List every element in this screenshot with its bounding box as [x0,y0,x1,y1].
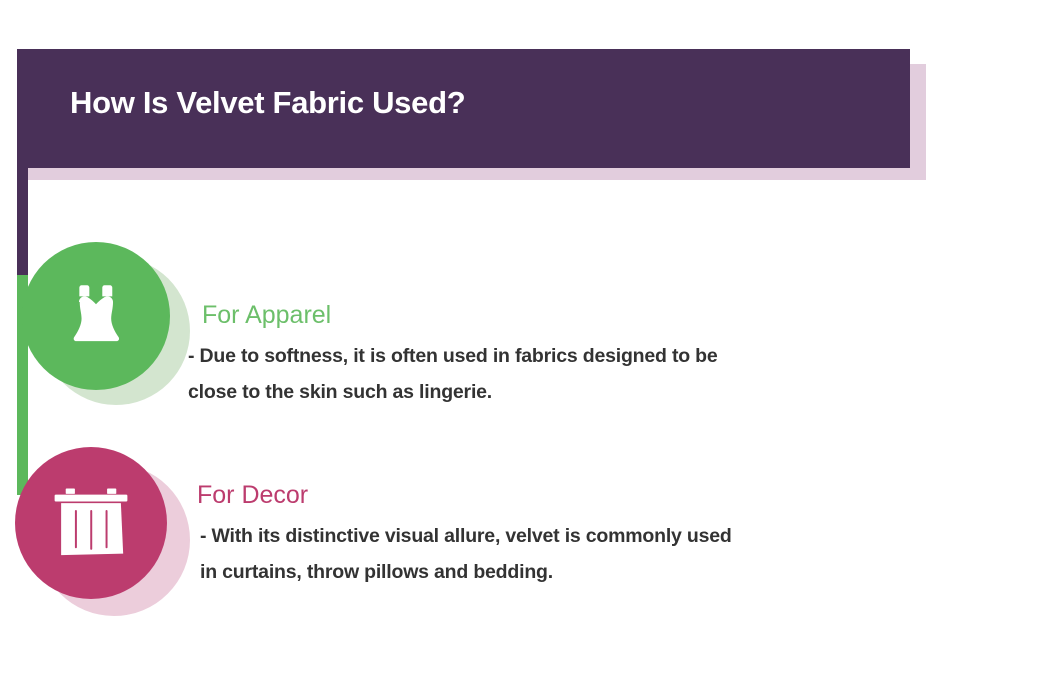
section-decor: For Decor - With its distinctive visual … [0,447,1041,622]
apparel-body-line-2: close to the skin such as lingerie. [188,374,878,410]
decor-badge-circle [15,447,167,599]
apparel-text-block: For Apparel - Due to softness, it is oft… [188,302,878,410]
decor-badge [14,447,190,612]
section-apparel: For Apparel - Due to softness, it is oft… [0,240,1041,415]
apparel-heading: For Apparel [188,302,878,330]
apparel-body-line-1: - Due to softness, it is often used in f… [188,338,878,374]
decor-body-line-2: in curtains, throw pillows and bedding. [197,554,897,590]
dress-icon [59,279,133,353]
page-title: How Is Velvet Fabric Used? [70,85,465,121]
decor-body-line-1: - With its distinctive visual allure, ve… [197,518,897,554]
apparel-badge [14,240,190,405]
slide-canvas: How Is Velvet Fabric Used? For Apparel -… [0,0,1041,684]
decor-heading: For Decor [197,482,897,510]
decor-text-block: For Decor - With its distinctive visual … [197,482,897,590]
apparel-badge-circle [22,242,170,390]
curtain-icon [52,487,130,559]
